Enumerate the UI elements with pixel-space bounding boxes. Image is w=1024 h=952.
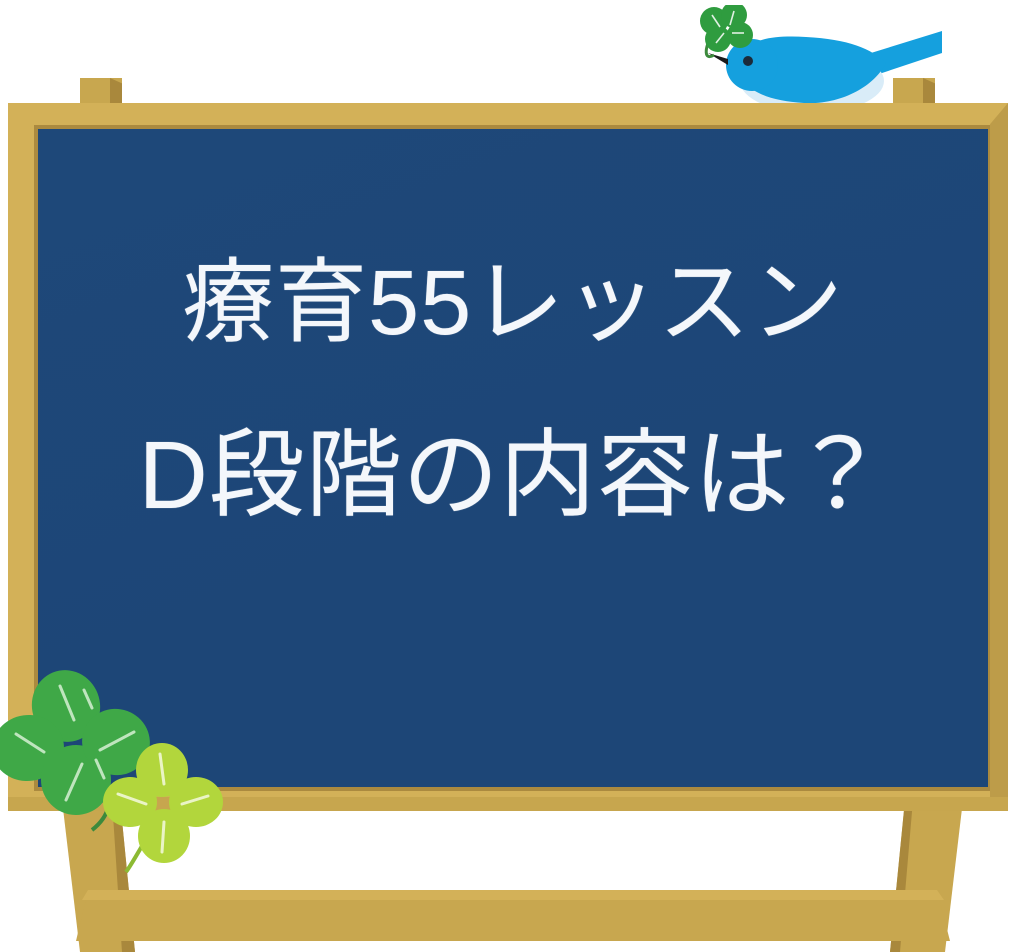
easel-crossbar (76, 890, 950, 941)
bird-head (726, 39, 778, 91)
bird-eye (743, 56, 753, 66)
chalk-line-1: 療育55レッスン (182, 257, 844, 351)
blackboard-scene: 療育55レッスン D段階の内容は？ (0, 0, 1024, 952)
clover-corner-small (96, 740, 236, 890)
clover-beak-small (700, 5, 753, 52)
bird-beak (708, 53, 728, 65)
chalk-line-2: D段階の内容は？ (138, 427, 887, 525)
frame-bevel-right (990, 103, 1008, 811)
blue-bird-icon (700, 5, 945, 117)
